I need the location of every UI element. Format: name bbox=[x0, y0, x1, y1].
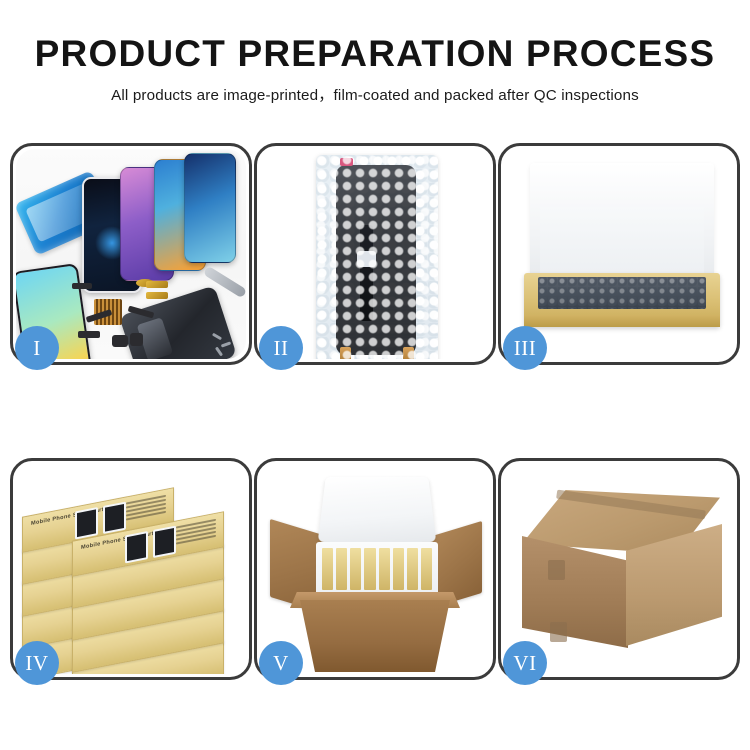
step-badge-4: IV bbox=[15, 641, 59, 685]
step-panel-2[interactable]: II bbox=[254, 143, 496, 365]
bubble-wrapped-contents-icon bbox=[538, 277, 706, 309]
stacked-boxes-scene: Mobile Phone Spare Parts Mobile Phone Sp… bbox=[16, 464, 246, 674]
phone-screen-icon bbox=[184, 153, 236, 263]
step-badge-5: V bbox=[259, 641, 303, 685]
step-3-photo bbox=[504, 149, 734, 359]
tape-tab-icon bbox=[550, 622, 567, 642]
small-part-icon bbox=[72, 283, 92, 289]
pink-label-icon bbox=[340, 158, 353, 166]
step-panel-1[interactable]: I bbox=[10, 143, 252, 365]
bubble-wrap-scene bbox=[260, 149, 490, 359]
box-spec-lines bbox=[176, 519, 216, 547]
step-badge-3: III bbox=[503, 326, 547, 370]
tan-tab-icon bbox=[340, 347, 351, 359]
step-panel-5[interactable]: V bbox=[254, 458, 496, 680]
foam-lid-open-icon bbox=[318, 477, 437, 542]
carton-body-icon bbox=[300, 600, 450, 672]
step-1-photo bbox=[16, 149, 246, 359]
flex-part-icon bbox=[146, 281, 168, 288]
connector-icon bbox=[357, 251, 376, 267]
step-panel-3[interactable]: III bbox=[498, 143, 740, 365]
page-header: PRODUCT PREPARATION PROCESS All products… bbox=[0, 0, 750, 105]
step-5-photo bbox=[260, 464, 490, 674]
step-badge-2: II bbox=[259, 326, 303, 370]
step-badge-1: I bbox=[15, 326, 59, 370]
box-spec-lines bbox=[126, 495, 166, 523]
carton-left-face-icon bbox=[522, 536, 628, 648]
tan-tab-icon bbox=[403, 347, 414, 359]
packed-retail-boxes-icon bbox=[322, 548, 432, 590]
foam-lid-icon bbox=[530, 163, 714, 281]
tray-rim-icon bbox=[524, 315, 720, 327]
step-2-photo bbox=[260, 149, 490, 359]
step-panel-6[interactable]: VI bbox=[498, 458, 740, 680]
foam-liner-icon bbox=[316, 542, 438, 598]
sealed-carton-scene bbox=[504, 464, 734, 674]
screws-icon bbox=[212, 335, 238, 357]
small-part-icon bbox=[130, 333, 143, 346]
page-title: PRODUCT PREPARATION PROCESS bbox=[0, 34, 750, 73]
small-part-icon bbox=[78, 331, 100, 338]
phone-parts-scene bbox=[16, 149, 246, 359]
step-4-photo: Mobile Phone Spare Parts Mobile Phone Sp… bbox=[16, 464, 246, 674]
steps-grid: I II bbox=[10, 143, 740, 723]
step-badge-6: VI bbox=[503, 641, 547, 685]
small-part-icon bbox=[112, 335, 128, 347]
kraft-tray-icon bbox=[524, 273, 720, 327]
flex-part-icon bbox=[146, 292, 168, 299]
bubble-wrapped-lcd-icon bbox=[316, 155, 438, 359]
open-kraft-box-scene bbox=[504, 149, 734, 359]
tape-tab-icon bbox=[548, 560, 565, 580]
box-screen-graphics bbox=[125, 526, 176, 564]
open-carton-scene bbox=[260, 464, 490, 674]
flex-cable-icon bbox=[360, 225, 373, 321]
step-6-photo bbox=[504, 464, 734, 674]
step-panel-4[interactable]: Mobile Phone Spare Parts Mobile Phone Sp… bbox=[10, 458, 252, 680]
lcd-panel-icon bbox=[336, 165, 416, 355]
page-subtitle: All products are image-printed，film-coat… bbox=[0, 83, 750, 105]
